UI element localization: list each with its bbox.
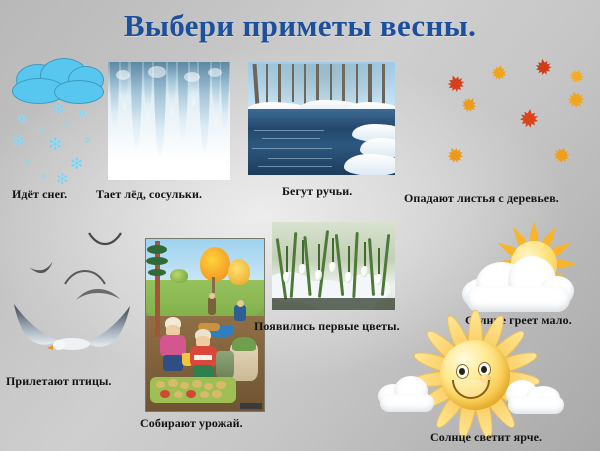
icicles-photo[interactable] xyxy=(108,62,230,180)
caption-birds: Прилетают птицы. xyxy=(6,375,112,388)
maple-leaf-icon xyxy=(533,57,554,78)
caption-icicles: Тает лёд, сосульки. xyxy=(96,188,202,201)
caption-harvest: Собирают урожай. xyxy=(140,417,243,430)
melting-stream-photo[interactable] xyxy=(248,62,395,175)
flying-birds-icon[interactable] xyxy=(4,232,149,382)
slide-canvas: Выбери приметы весны. ✻ ✳ ✲ ✳ ✲ ✻ ✻ ✲ ✲ … xyxy=(0,0,600,451)
maple-leaf-icon xyxy=(517,107,541,131)
snowdrops-photo[interactable] xyxy=(272,222,395,310)
maple-leaf-icon xyxy=(457,93,482,118)
bird-silhouette-icon xyxy=(29,262,55,278)
maple-leaf-icon xyxy=(443,143,469,169)
page-title: Выбери приметы весны. xyxy=(0,8,600,44)
caption-sun-bright: Солнце светит ярче. xyxy=(430,431,542,444)
caption-snow: Идёт снег. xyxy=(12,188,67,201)
harvest-illustration[interactable] xyxy=(145,238,265,412)
falling-leaves-icon[interactable] xyxy=(400,58,600,178)
seagull-icon xyxy=(12,300,132,356)
maple-leaf-icon xyxy=(565,65,587,87)
bird-silhouette-icon xyxy=(88,232,122,246)
caption-streams: Бегут ручьи. xyxy=(282,185,352,198)
smiling-sun-icon[interactable] xyxy=(378,322,568,440)
caption-leaves: Опадают листья с деревьев. xyxy=(404,192,559,205)
sun-behind-cloud-icon[interactable] xyxy=(462,228,594,316)
sun-face xyxy=(440,340,510,410)
snow-cloud-icon[interactable]: ✻ ✳ ✲ ✳ ✲ ✻ ✻ ✲ ✲ ✻ ✲ ✻ xyxy=(10,58,106,186)
maple-leaf-icon xyxy=(564,88,589,113)
maple-leaf-icon xyxy=(550,144,574,168)
maple-leaf-icon xyxy=(488,62,509,83)
